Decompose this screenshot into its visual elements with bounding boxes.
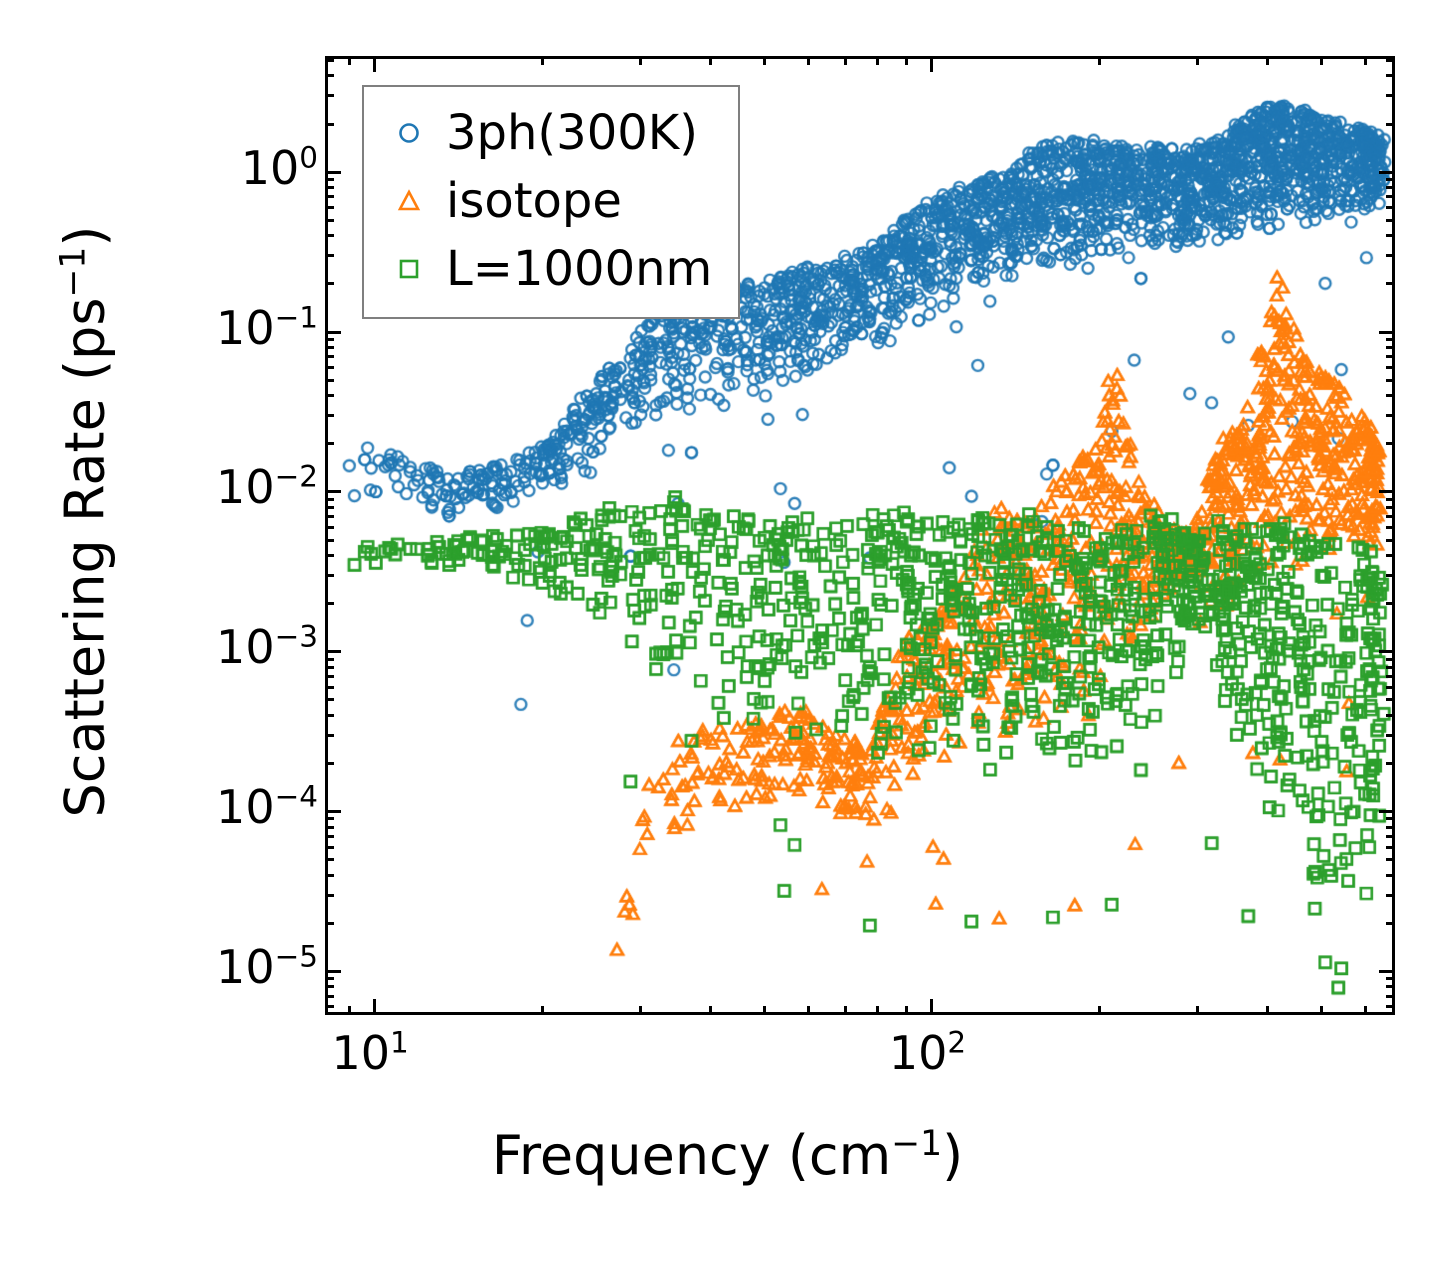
x-tick	[1098, 56, 1101, 65]
y-tick	[1386, 985, 1395, 988]
y-tick	[1386, 666, 1395, 669]
y-tick	[1386, 366, 1395, 369]
y-tick-label: 10−2	[216, 464, 318, 510]
y-tick	[1386, 234, 1395, 237]
y-tick	[1386, 539, 1395, 542]
x-tick	[905, 56, 908, 65]
y-tick	[1379, 171, 1395, 174]
triangle-marker-icon	[382, 187, 436, 215]
legend-label-3ph: 3ph(300K)	[446, 105, 698, 161]
y-tick	[325, 810, 341, 813]
y-tick	[1379, 650, 1395, 653]
y-tick	[1386, 977, 1395, 980]
y-tick	[1386, 123, 1395, 126]
x-tick	[639, 56, 642, 65]
y-axis-label: Scattering Rate (ps−1)	[54, 226, 117, 818]
y-tick	[1386, 658, 1395, 661]
y-tick	[325, 282, 334, 285]
y-tick	[325, 817, 334, 820]
y-tick	[325, 442, 334, 445]
y-tick	[1386, 515, 1395, 518]
y-tick	[1386, 554, 1395, 557]
y-tick	[1386, 686, 1395, 689]
y-tick	[1386, 835, 1395, 838]
x-tick	[348, 56, 351, 65]
y-tick	[325, 490, 341, 493]
x-axis-label: Frequency (cm−1)	[0, 1124, 1455, 1187]
x-tick	[1266, 56, 1269, 65]
y-tick	[325, 506, 334, 509]
y-tick	[1386, 826, 1395, 829]
plot-area: 3ph(300K) isotope L=1000nm	[325, 56, 1395, 1015]
x-axis-label-base: Frequency (cm	[492, 1124, 892, 1187]
y-tick	[325, 338, 334, 341]
y-tick	[325, 675, 334, 678]
x-tick	[639, 1006, 642, 1015]
y-tick	[1386, 498, 1395, 501]
y-tick	[325, 995, 334, 998]
y-tick	[325, 74, 334, 77]
y-tick	[325, 874, 334, 877]
x-tick	[373, 56, 376, 72]
y-tick-label: 10−4	[216, 784, 318, 830]
y-tick	[1386, 1005, 1395, 1008]
x-axis-label-exponent: −1	[891, 1124, 942, 1164]
x-tick	[844, 56, 847, 65]
legend-label-isotope: isotope	[446, 173, 622, 229]
y-axis-label-exponent: −1	[54, 247, 94, 298]
y-tick	[1386, 734, 1395, 737]
y-tick-label: 10−1	[216, 305, 318, 351]
y-tick	[325, 574, 334, 577]
y-tick	[325, 394, 334, 397]
y-tick	[325, 346, 334, 349]
y-tick	[325, 835, 334, 838]
x-tick-label: 101	[331, 1030, 408, 1076]
y-tick	[1386, 698, 1395, 701]
y-tick	[325, 178, 334, 181]
y-tick	[325, 658, 334, 661]
y-tick	[325, 171, 341, 174]
y-axis-label-base: Scattering Rate (ps	[54, 298, 117, 818]
x-tick	[541, 56, 544, 65]
y-tick	[1386, 526, 1395, 529]
y-tick	[1379, 331, 1395, 334]
y-tick	[325, 858, 334, 861]
x-tick	[709, 56, 712, 65]
y-tick	[325, 498, 334, 501]
y-tick	[1379, 970, 1395, 973]
x-tick	[541, 1006, 544, 1015]
y-tick-label: 100	[241, 145, 318, 191]
y-tick	[1379, 810, 1395, 813]
y-tick	[1386, 442, 1395, 445]
y-tick	[1386, 675, 1395, 678]
y-tick	[325, 219, 334, 222]
y-tick	[325, 977, 334, 980]
y-tick-label: 10−3	[216, 624, 318, 670]
x-tick	[807, 56, 810, 65]
y-tick	[1386, 59, 1395, 62]
legend-label-length: L=1000nm	[446, 241, 712, 297]
y-tick	[325, 355, 334, 358]
y-tick	[325, 698, 334, 701]
y-tick	[325, 762, 334, 765]
y-tick	[325, 602, 334, 605]
y-tick	[325, 922, 334, 925]
y-tick	[325, 186, 334, 189]
y-tick	[325, 846, 334, 849]
y-tick	[325, 515, 334, 518]
y-tick	[1386, 338, 1395, 341]
legend-entry-length: L=1000nm	[382, 237, 712, 301]
y-tick	[1386, 922, 1395, 925]
y-tick	[1386, 995, 1395, 998]
x-tick	[1364, 1006, 1367, 1015]
y-tick	[1386, 186, 1395, 189]
y-tick	[325, 366, 334, 369]
y-tick	[325, 714, 334, 717]
x-tick	[930, 999, 933, 1015]
y-tick	[325, 59, 334, 62]
x-tick	[709, 1006, 712, 1015]
x-tick	[905, 1006, 908, 1015]
y-tick	[325, 970, 341, 973]
y-tick	[1386, 195, 1395, 198]
x-axis-label-tail: )	[942, 1124, 963, 1187]
y-tick	[325, 234, 334, 237]
y-tick	[1386, 178, 1395, 181]
x-tick	[844, 1006, 847, 1015]
y-tick-label: 10−5	[216, 944, 318, 990]
y-tick	[325, 414, 334, 417]
y-tick	[325, 686, 334, 689]
y-tick	[1386, 574, 1395, 577]
x-tick	[1196, 56, 1199, 65]
y-tick	[325, 123, 334, 126]
x-tick	[1266, 1006, 1269, 1015]
y-tick	[1386, 858, 1395, 861]
y-tick	[1386, 762, 1395, 765]
x-tick	[1196, 1006, 1199, 1015]
y-tick	[1386, 206, 1395, 209]
y-tick	[325, 206, 334, 209]
y-tick	[1379, 490, 1395, 493]
y-tick	[1386, 254, 1395, 257]
x-tick-label: 102	[889, 1030, 966, 1076]
y-tick	[325, 94, 334, 97]
y-tick	[325, 526, 334, 529]
y-tick	[1386, 602, 1395, 605]
x-tick	[1320, 1006, 1323, 1015]
y-tick	[1386, 379, 1395, 382]
legend-entry-3ph: 3ph(300K)	[382, 101, 712, 165]
x-tick	[1364, 56, 1367, 65]
y-axis-label-wrapper: Scattering Rate (ps−1)	[54, 42, 117, 1002]
y-tick	[1386, 414, 1395, 417]
x-tick	[876, 1006, 879, 1015]
y-tick	[1386, 94, 1395, 97]
y-tick	[1386, 506, 1395, 509]
y-tick	[1386, 846, 1395, 849]
y-tick	[325, 894, 334, 897]
x-tick	[930, 56, 933, 72]
y-tick	[325, 985, 334, 988]
x-tick	[373, 999, 376, 1015]
y-tick	[325, 331, 341, 334]
x-tick	[807, 1006, 810, 1015]
x-tick	[763, 1006, 766, 1015]
y-tick	[325, 666, 334, 669]
y-tick	[325, 734, 334, 737]
y-tick	[1386, 714, 1395, 717]
y-tick	[1386, 282, 1395, 285]
circle-marker-icon	[382, 119, 436, 147]
y-tick	[325, 195, 334, 198]
y-tick	[325, 254, 334, 257]
x-tick	[763, 56, 766, 65]
y-tick	[325, 554, 334, 557]
y-tick	[325, 539, 334, 542]
y-tick	[1386, 874, 1395, 877]
y-tick	[325, 826, 334, 829]
square-marker-icon	[382, 255, 436, 283]
scatter-plot-figure: 3ph(300K) isotope L=1000nm 10110	[0, 0, 1455, 1265]
x-tick	[348, 1006, 351, 1015]
legend-entry-isotope: isotope	[382, 169, 712, 233]
y-tick	[1386, 74, 1395, 77]
y-tick	[325, 1005, 334, 1008]
y-axis-label-tail: )	[54, 226, 117, 247]
legend-box: 3ph(300K) isotope L=1000nm	[362, 85, 740, 319]
x-tick	[1098, 1006, 1101, 1015]
y-tick	[1386, 394, 1395, 397]
y-tick	[325, 650, 341, 653]
y-tick	[1386, 894, 1395, 897]
x-tick	[876, 56, 879, 65]
y-tick	[1386, 346, 1395, 349]
x-tick	[1320, 56, 1323, 65]
y-tick	[1386, 219, 1395, 222]
y-tick	[1386, 817, 1395, 820]
y-tick	[325, 379, 334, 382]
y-tick	[1386, 355, 1395, 358]
